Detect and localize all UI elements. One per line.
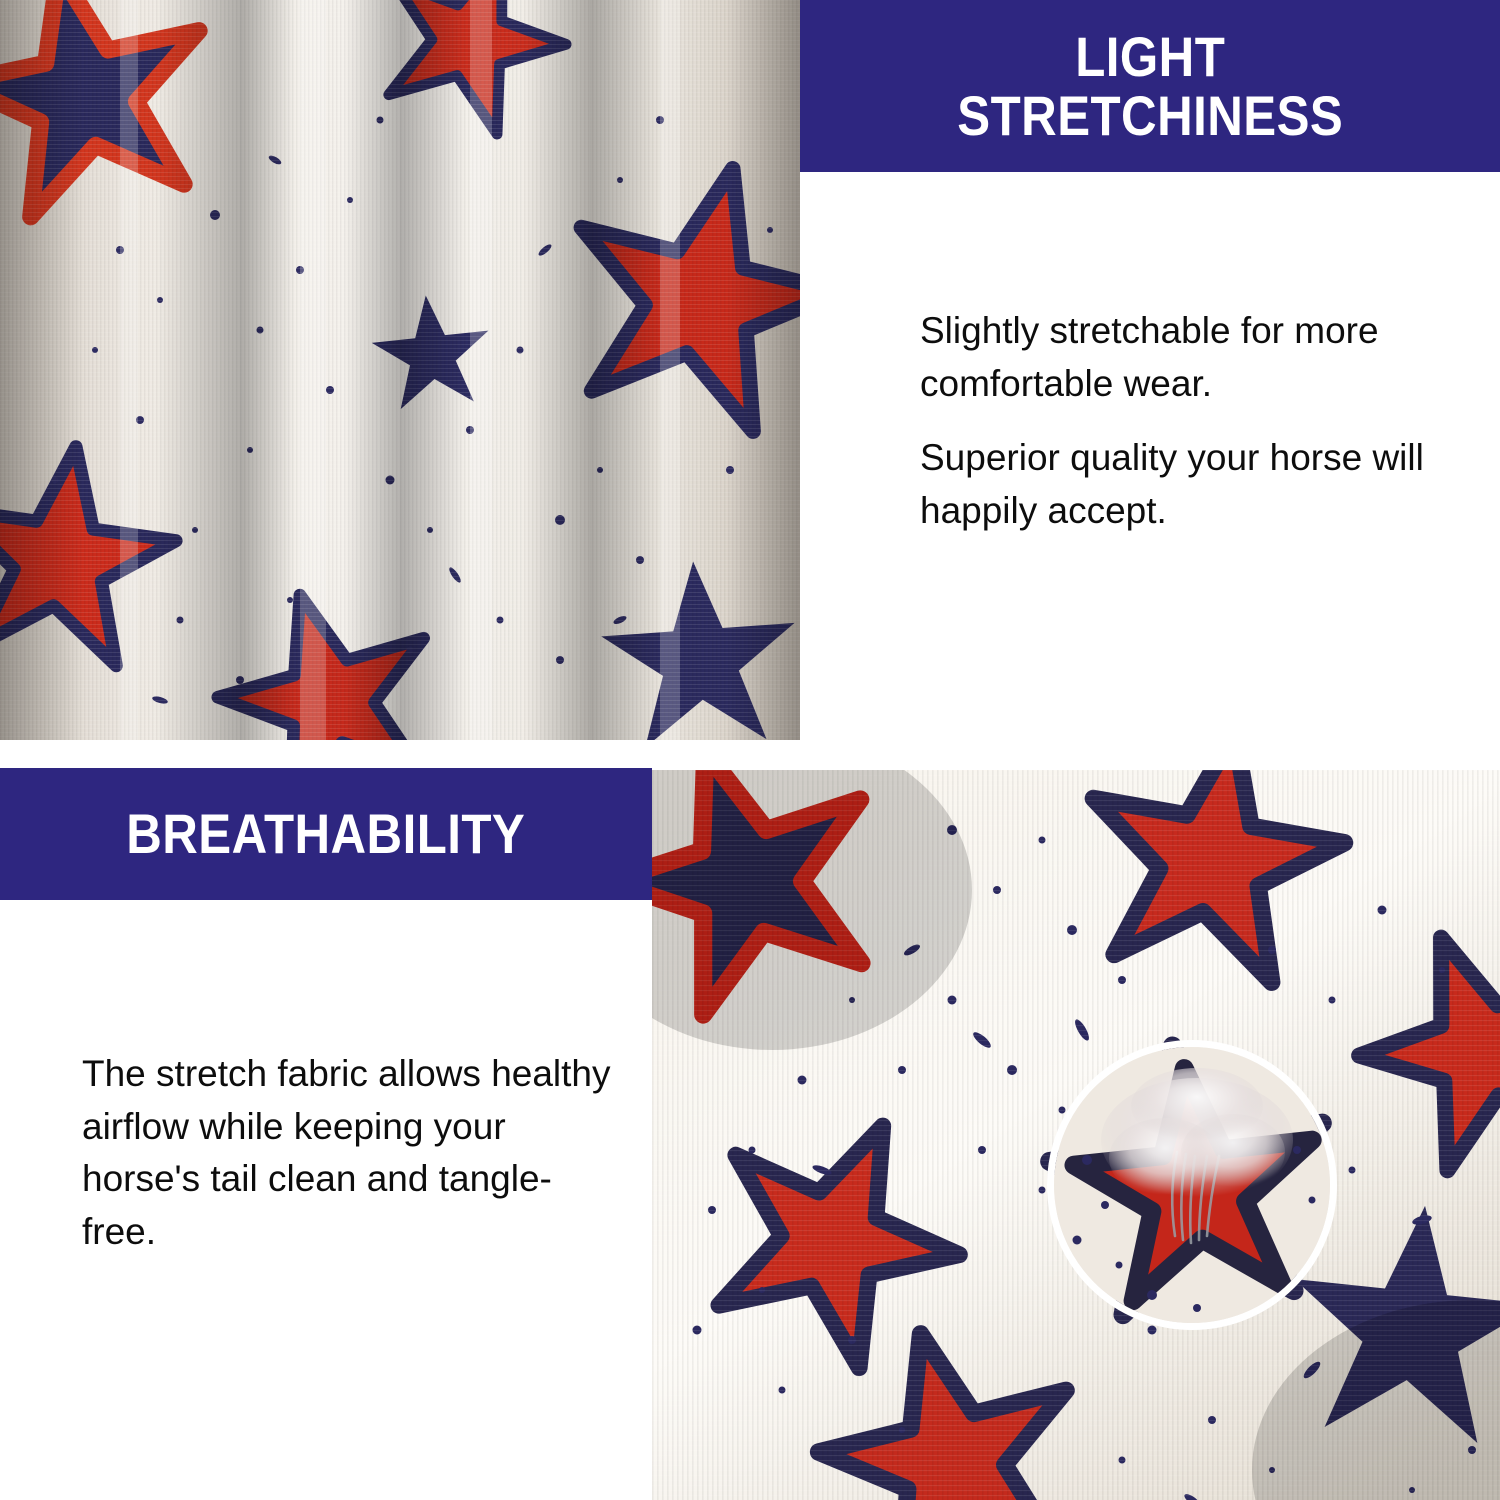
airflow-detail-circle xyxy=(1047,1040,1337,1330)
breathability-paragraph-1: The stretch fabric allows healthy airflo… xyxy=(82,1048,622,1258)
stretchiness-paragraph-2: Superior quality your horse will happily… xyxy=(920,432,1460,537)
stretchiness-banner: LIGHT STRETCHINESS xyxy=(800,0,1500,172)
breathability-banner-title: BREATHABILITY xyxy=(126,804,525,863)
stretchiness-paragraph-1: Slightly stretchable for more comfortabl… xyxy=(920,305,1460,410)
infographic-page: LIGHT STRETCHINESS Slightly stretchable … xyxy=(0,0,1500,1500)
airflow-vapor-illustration xyxy=(1047,1040,1337,1330)
fabric-drape-illustration xyxy=(0,0,800,740)
stretchiness-copy: Slightly stretchable for more comfortabl… xyxy=(920,305,1460,537)
breathability-banner: BREATHABILITY xyxy=(0,768,652,900)
stretchiness-banner-title: LIGHT STRETCHINESS xyxy=(957,27,1343,146)
breathability-copy: The stretch fabric allows healthy airflo… xyxy=(82,1048,622,1258)
stretchiness-fabric-photo xyxy=(0,0,800,740)
